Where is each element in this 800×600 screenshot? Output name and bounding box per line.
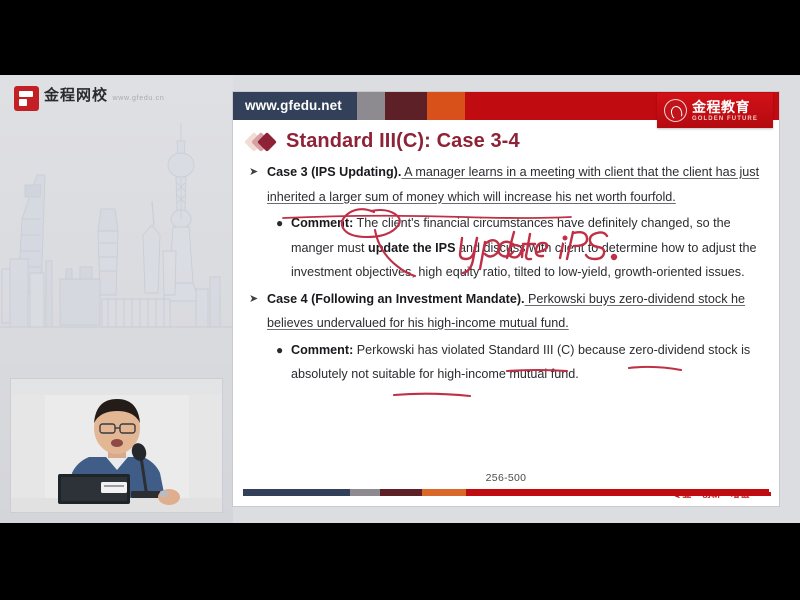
slide-body: ➤ Case 3 (IPS Updating). A manager learn… xyxy=(249,160,765,389)
arrow-bullet-icon: ➤ xyxy=(249,160,260,185)
seal-icon xyxy=(664,99,687,122)
header-band-orange xyxy=(427,92,465,120)
logo-name-en: GOLDEN FUTURE xyxy=(692,116,758,122)
player-viewport: 金程网校 www.gfedu.cn xyxy=(0,75,800,523)
header-band-maroon xyxy=(385,92,427,120)
slide-page-label: 256-500 xyxy=(233,472,779,484)
slide-title-row: Standard III(C): Case 3-4 xyxy=(247,130,520,153)
case-3-lead: Case 3 (IPS Updating). xyxy=(267,165,401,179)
presentation-slide: www.gfedu.net 金程教育 GOLDEN FUTURE Standar… xyxy=(233,92,779,506)
page-title: Standard III(C): Case 3-4 xyxy=(286,130,520,153)
slogan-dash-right-icon xyxy=(754,492,771,496)
bullet-case-3-comment: ● Comment: The client's financial circum… xyxy=(276,211,765,285)
letterbox-top xyxy=(0,0,800,75)
course-brand-lockup: 金程网校 www.gfedu.cn xyxy=(14,86,164,111)
footer-slogan: 专业 · 创新 · 增值 xyxy=(673,487,750,500)
bullet-case-4-comment: ● Comment: Perkowski has violated Standa… xyxy=(276,338,765,387)
gfedu-education-logo: 金程教育 GOLDEN FUTURE xyxy=(657,93,773,128)
brand-name-cn: 金程网校 xyxy=(44,87,108,104)
gfedu-logo-icon xyxy=(14,86,39,111)
header-website-url: www.gfedu.net xyxy=(245,92,342,120)
case-3-comment-label: Comment: xyxy=(291,216,353,230)
logo-name-cn: 金程教育 xyxy=(692,100,758,114)
footer-band-maroon xyxy=(380,489,422,496)
case-3-comment-emphasis: update the IPS xyxy=(368,241,455,255)
case-4-comment-text: Perkowski has violated Standard III (C) … xyxy=(291,343,750,382)
case-4-text: Case 4 (Following an Investment Mandate)… xyxy=(267,287,765,336)
footer-band-navy xyxy=(243,489,350,496)
footer-band-orange xyxy=(422,489,466,496)
left-rail: 金程网校 www.gfedu.cn xyxy=(0,75,233,523)
bullet-case-4: ➤ Case 4 (Following an Investment Mandat… xyxy=(249,287,765,336)
case-3-text: Case 3 (IPS Updating). A manager learns … xyxy=(267,160,765,209)
presenter-video-tile[interactable] xyxy=(10,378,223,513)
ink-underline-undervalued xyxy=(394,394,470,396)
header-band-grey xyxy=(357,92,385,120)
letterbox-bottom xyxy=(0,523,800,600)
brand-url: www.gfedu.cn xyxy=(112,95,164,102)
diamond-bullet-icon xyxy=(247,132,277,152)
case-3-comment: Comment: The client's financial circumst… xyxy=(291,211,765,285)
arrow-bullet-icon: ➤ xyxy=(249,287,260,312)
dot-bullet-icon: ● xyxy=(276,211,284,236)
footer-slogan-group: 专业 · 创新 · 增值 xyxy=(652,487,771,500)
logo-texts: 金程教育 GOLDEN FUTURE xyxy=(692,100,758,122)
case-4-comment: Comment: Perkowski has violated Standard… xyxy=(291,338,765,387)
shanghai-skyline-watermark xyxy=(0,123,233,383)
video-player-screen: 金程网校 www.gfedu.cn xyxy=(0,0,800,600)
case-4-comment-label: Comment: xyxy=(291,343,353,357)
bullet-case-3: ➤ Case 3 (IPS Updating). A manager learn… xyxy=(249,160,765,209)
slogan-dash-left-icon xyxy=(652,492,669,496)
case-4-lead: Case 4 (Following an Investment Mandate)… xyxy=(267,292,525,306)
presenter-video-frame xyxy=(11,379,223,513)
dot-bullet-icon: ● xyxy=(276,338,284,363)
footer-band-grey xyxy=(350,489,380,496)
brand-texts: 金程网校 www.gfedu.cn xyxy=(44,86,164,105)
